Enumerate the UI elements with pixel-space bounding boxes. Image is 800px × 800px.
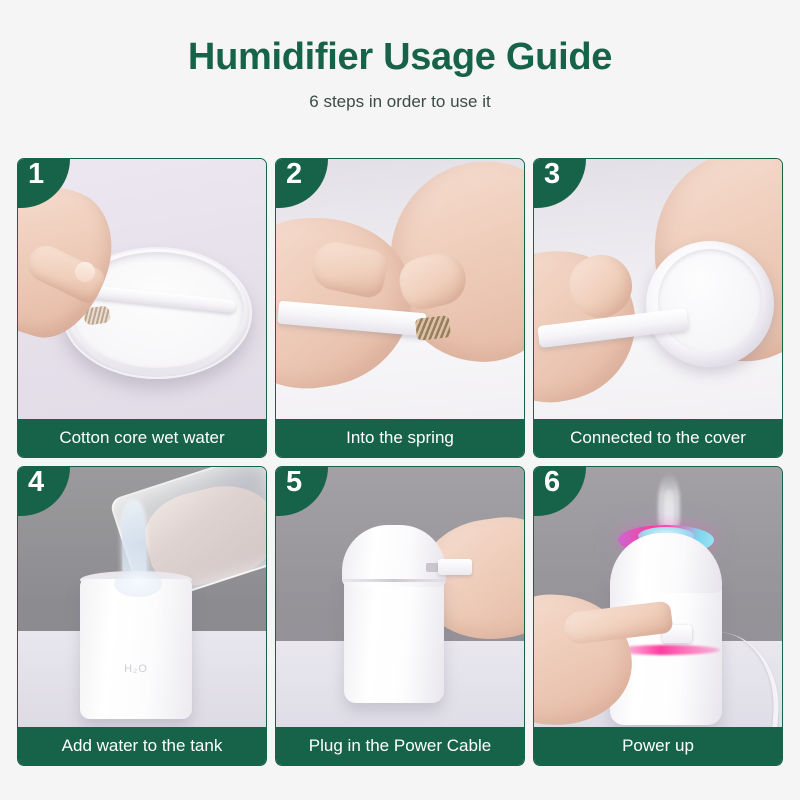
step-photo-2: 2: [276, 159, 524, 419]
step-card-1[interactable]: 1 Cotton core wet water: [17, 158, 267, 458]
step-card-6[interactable]: 6 Power up: [533, 466, 783, 766]
steps-grid: 1 Cotton core wet water 2 Into the sprin…: [17, 158, 783, 766]
step-photo-6: 6: [534, 467, 782, 727]
step-caption-1: Cotton core wet water: [18, 419, 266, 457]
step-caption-2: Into the spring: [276, 419, 524, 457]
step-caption-4: Add water to the tank: [18, 727, 266, 765]
page-title: Humidifier Usage Guide: [0, 38, 800, 78]
step-caption-5: Plug in the Power Cable: [276, 727, 524, 765]
step-card-2[interactable]: 2 Into the spring: [275, 158, 525, 458]
usb-plug-shape: [438, 559, 472, 575]
step-photo-4: H₂O 4: [18, 467, 266, 727]
tank-h2o-label: H₂O: [80, 663, 192, 675]
step-card-4[interactable]: H₂O 4 Add water to the tank: [17, 466, 267, 766]
step-photo-3: 3: [534, 159, 782, 419]
step-photo-5: 5: [276, 467, 524, 727]
header: Humidifier Usage Guide 6 steps in order …: [0, 0, 800, 112]
page-subtitle: 6 steps in order to use it: [0, 92, 800, 112]
step-photo-1: 1: [18, 159, 266, 419]
step-caption-3: Connected to the cover: [534, 419, 782, 457]
water-splash-shape: [114, 571, 162, 597]
lid-seam-shape: [342, 579, 446, 582]
infographic-page: Humidifier Usage Guide 6 steps in order …: [0, 0, 800, 800]
spring-shape: [415, 315, 451, 340]
cover-inner-shape: [658, 249, 762, 353]
step-caption-6: Power up: [534, 727, 782, 765]
step-card-3[interactable]: 3 Connected to the cover: [533, 158, 783, 458]
step-card-5[interactable]: 5 Plug in the Power Cable: [275, 466, 525, 766]
water-tank-shape: [80, 579, 192, 719]
humidifier-body-shape: [344, 571, 444, 703]
